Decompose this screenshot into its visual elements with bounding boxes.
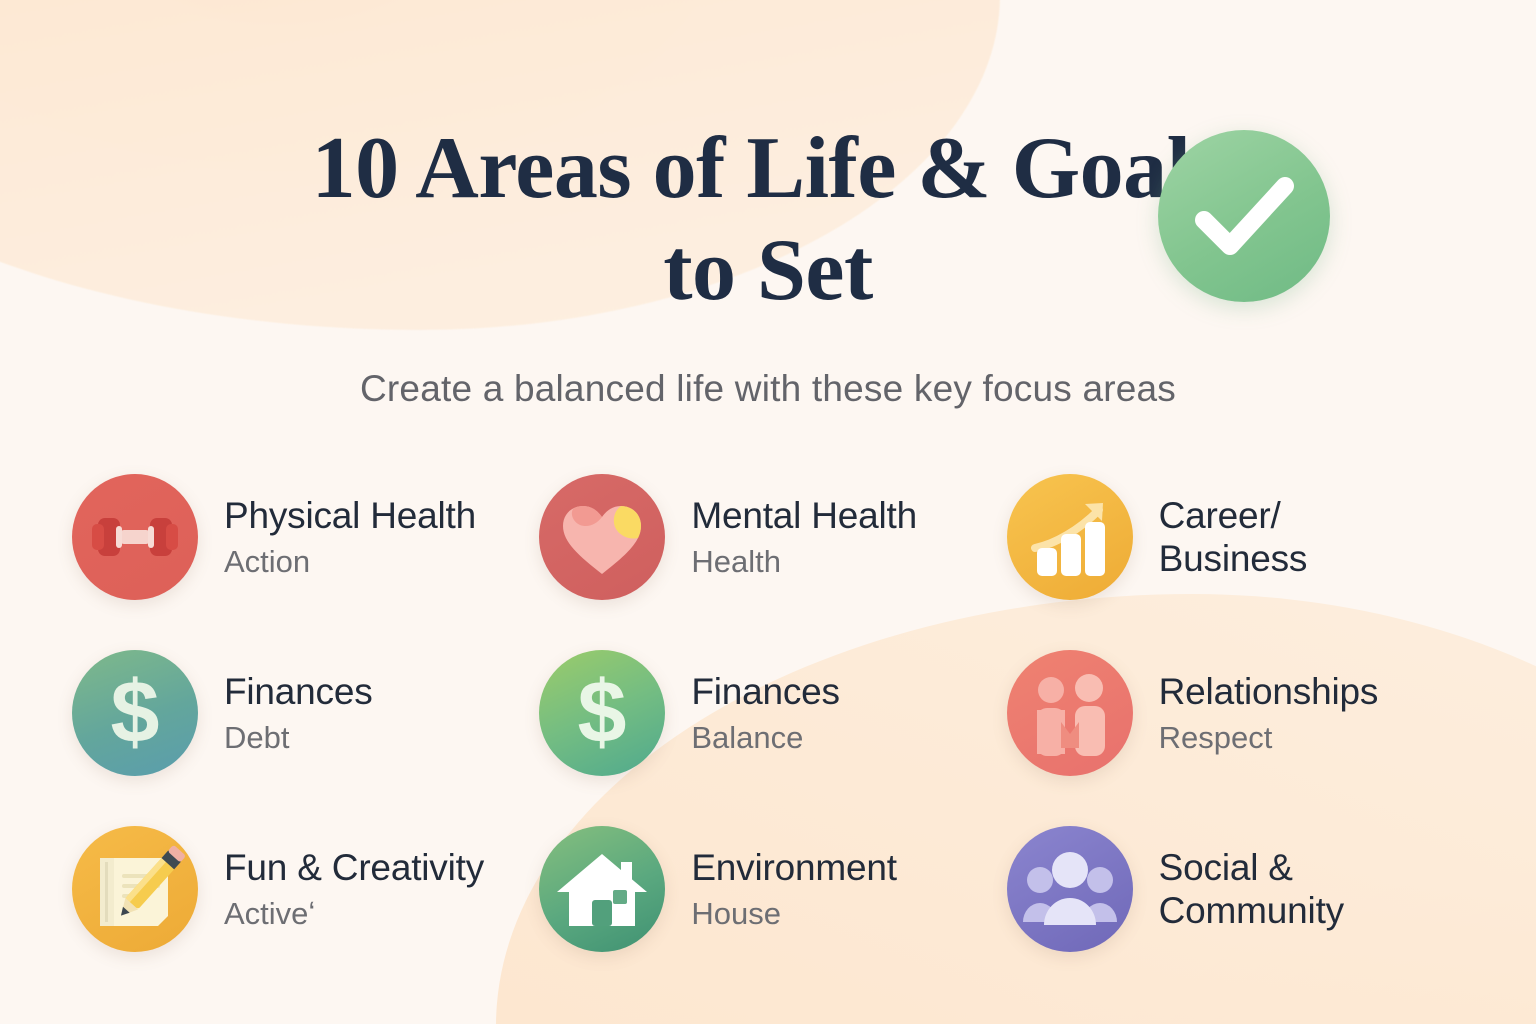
life-area-text: Relationships Respect	[1159, 670, 1379, 756]
life-area-item[interactable]: Relationships Respect	[1007, 650, 1474, 776]
svg-text:$: $	[111, 662, 160, 761]
infographic-canvas: 10 Areas of Life & Goals to Set Create a…	[0, 0, 1536, 1024]
life-area-sublabel: Action	[224, 544, 476, 581]
life-area-text: Environment House	[691, 846, 897, 932]
life-area-label: Finances	[224, 670, 373, 714]
life-area-text: Physical Health Action	[224, 494, 476, 580]
life-area-text: Mental Health Health	[691, 494, 917, 580]
dumbbell-icon	[72, 474, 198, 600]
life-area-sublabel: Balance	[691, 720, 840, 757]
life-areas-grid: Physical Health Action Mental Health Hea…	[62, 474, 1474, 952]
growth-chart-icon	[1007, 474, 1133, 600]
check-circle-icon	[1158, 130, 1330, 302]
life-area-label: Environment	[691, 846, 897, 890]
life-area-text: Finances Debt	[224, 670, 373, 756]
svg-text:$: $	[578, 662, 627, 761]
life-area-sublabel: Health	[691, 544, 917, 581]
life-area-text: Finances Balance	[691, 670, 840, 756]
life-area-item[interactable]: Social & Community	[1007, 826, 1474, 952]
life-area-item[interactable]: Environment House	[539, 826, 1006, 952]
life-area-text: Career/ Business	[1159, 494, 1308, 581]
life-area-label: Mental Health	[691, 494, 917, 538]
life-area-label: Career/ Business	[1159, 494, 1308, 581]
house-icon	[539, 826, 665, 952]
life-area-label: Fun & Creativity	[224, 846, 484, 890]
dollar-sign-icon: $	[72, 650, 198, 776]
dollar-sign-icon: $	[539, 650, 665, 776]
life-area-text: Social & Community	[1159, 846, 1344, 933]
header: 10 Areas of Life & Goals to Set Create a…	[0, 0, 1536, 410]
life-area-sublabel: Respect	[1159, 720, 1379, 757]
life-area-item[interactable]: Fun & Creativity Activeʻ	[72, 826, 539, 952]
life-area-item[interactable]: Career/ Business	[1007, 474, 1474, 600]
life-area-label: Finances	[691, 670, 840, 714]
page-subtitle: Create a balanced life with these key fo…	[0, 368, 1536, 410]
title-row: 10 Areas of Life & Goals to Set	[128, 118, 1408, 322]
life-area-item[interactable]: $ Finances Debt	[72, 650, 539, 776]
life-area-label: Social & Community	[1159, 846, 1344, 933]
two-people-icon	[1007, 650, 1133, 776]
notebook-pencil-icon	[72, 826, 198, 952]
life-area-item[interactable]: Mental Health Health	[539, 474, 1006, 600]
life-area-sublabel: House	[691, 896, 897, 933]
group-people-icon	[1007, 826, 1133, 952]
life-area-sublabel: Debt	[224, 720, 373, 757]
life-area-label: Relationships	[1159, 670, 1379, 714]
life-area-label: Physical Health	[224, 494, 476, 538]
life-area-item[interactable]: $ Finances Balance	[539, 650, 1006, 776]
heart-icon	[539, 474, 665, 600]
life-area-item[interactable]: Physical Health Action	[72, 474, 539, 600]
life-area-text: Fun & Creativity Activeʻ	[224, 846, 484, 932]
life-area-sublabel: Activeʻ	[224, 896, 484, 933]
